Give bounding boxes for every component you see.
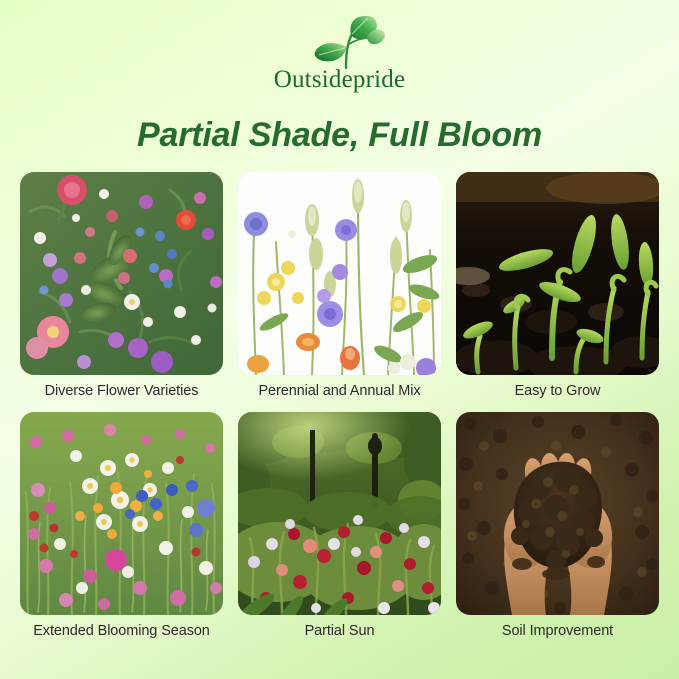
feature-caption: Extended Blooming Season [20,622,223,640]
wildflower-stems-white-background-photo [238,172,441,375]
feature-caption: Perennial and Annual Mix [238,382,441,400]
page-title: Partial Shade, Full Bloom [0,116,679,155]
brand-wordmark: Outsidepride [274,67,406,92]
feature-caption: Soil Improvement [456,622,659,640]
dense-wildflower-patch-photo [20,172,223,375]
wildflower-meadow-photo [20,412,223,615]
feature-cell: Extended Blooming Season [20,412,223,640]
feature-cell: Partial Sun [238,412,441,640]
feature-caption: Partial Sun [238,622,441,640]
feature-caption: Diverse Flower Varieties [20,382,223,400]
hands-holding-soil-photo [456,412,659,615]
feature-cell: Soil Improvement [456,412,659,640]
feature-caption: Easy to Grow [456,382,659,400]
feature-cell: Easy to Grow [456,172,659,400]
seedlings-in-soil-photo [456,172,659,375]
infographic-canvas: Outsidepride Partial Shade, Full Bloom [0,0,679,679]
leaf-sprig-icon [294,14,386,70]
feature-cell: Diverse Flower Varieties [20,172,223,400]
sunlit-garden-border-photo [238,412,441,615]
feature-cell: Perennial and Annual Mix [238,172,441,400]
brand-header: Outsidepride [0,14,679,92]
feature-grid: Diverse Flower Varieties [20,172,659,640]
